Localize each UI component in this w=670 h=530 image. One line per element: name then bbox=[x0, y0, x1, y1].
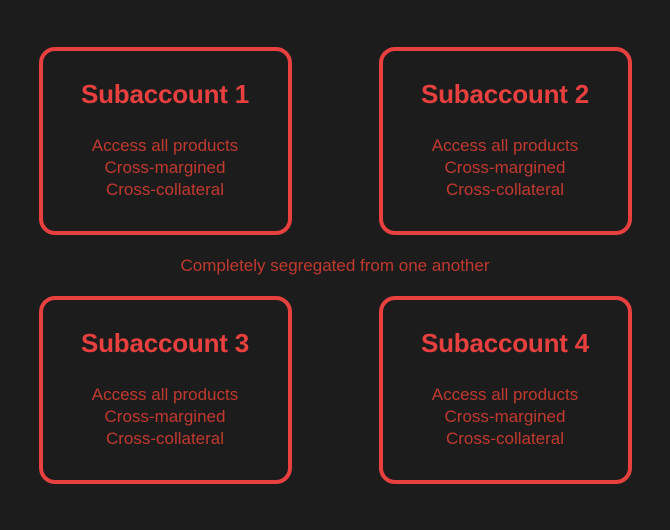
subaccount-feature-item: Cross-collateral bbox=[432, 428, 578, 450]
subaccount-feature-item: Cross-collateral bbox=[92, 179, 238, 201]
subaccount-feature-item: Cross-collateral bbox=[432, 179, 578, 201]
subaccount-feature-list: Access all products Cross-margined Cross… bbox=[432, 384, 578, 450]
subaccount-card-2[interactable]: Subaccount 2 Access all products Cross-m… bbox=[379, 47, 632, 235]
subaccount-card-3[interactable]: Subaccount 3 Access all products Cross-m… bbox=[39, 296, 292, 484]
subaccount-row-top: Subaccount 1 Access all products Cross-m… bbox=[39, 47, 632, 235]
subaccount-feature-item: Cross-margined bbox=[92, 406, 238, 428]
subaccount-feature-item: Access all products bbox=[432, 135, 578, 157]
subaccount-feature-item: Cross-collateral bbox=[92, 428, 238, 450]
subaccount-card-1[interactable]: Subaccount 1 Access all products Cross-m… bbox=[39, 47, 292, 235]
segregation-caption: Completely segregated from one another bbox=[180, 235, 489, 296]
subaccount-row-bottom: Subaccount 3 Access all products Cross-m… bbox=[39, 296, 632, 484]
subaccount-diagram: Subaccount 1 Access all products Cross-m… bbox=[0, 0, 670, 530]
subaccount-feature-item: Cross-margined bbox=[432, 406, 578, 428]
subaccount-card-title: Subaccount 3 bbox=[81, 329, 249, 358]
subaccount-feature-list: Access all products Cross-margined Cross… bbox=[92, 135, 238, 201]
subaccount-feature-list: Access all products Cross-margined Cross… bbox=[92, 384, 238, 450]
subaccount-feature-item: Cross-margined bbox=[432, 157, 578, 179]
subaccount-feature-item: Cross-margined bbox=[92, 157, 238, 179]
subaccount-feature-list: Access all products Cross-margined Cross… bbox=[432, 135, 578, 201]
subaccount-card-title: Subaccount 4 bbox=[421, 329, 589, 358]
subaccount-card-4[interactable]: Subaccount 4 Access all products Cross-m… bbox=[379, 296, 632, 484]
subaccount-feature-item: Access all products bbox=[432, 384, 578, 406]
subaccount-feature-item: Access all products bbox=[92, 384, 238, 406]
subaccount-card-title: Subaccount 1 bbox=[81, 80, 249, 109]
subaccount-feature-item: Access all products bbox=[92, 135, 238, 157]
subaccount-card-title: Subaccount 2 bbox=[421, 80, 589, 109]
